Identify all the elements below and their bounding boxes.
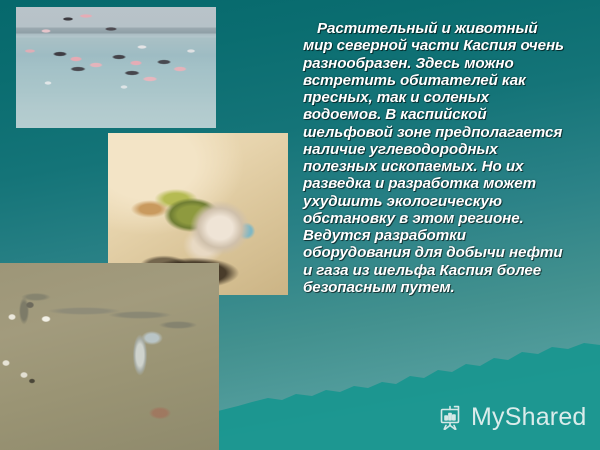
- photo-flamingos: [16, 7, 216, 128]
- presentation-slide: Растительный и животный мир северной час…: [0, 0, 600, 450]
- myshared-watermark: MyShared: [437, 404, 587, 431]
- myshared-label: MyShared: [471, 405, 587, 430]
- slide-body-text: Растительный и животный мир северной час…: [303, 20, 571, 296]
- photo-snake: [0, 263, 219, 450]
- presentation-chart-icon: [437, 404, 464, 431]
